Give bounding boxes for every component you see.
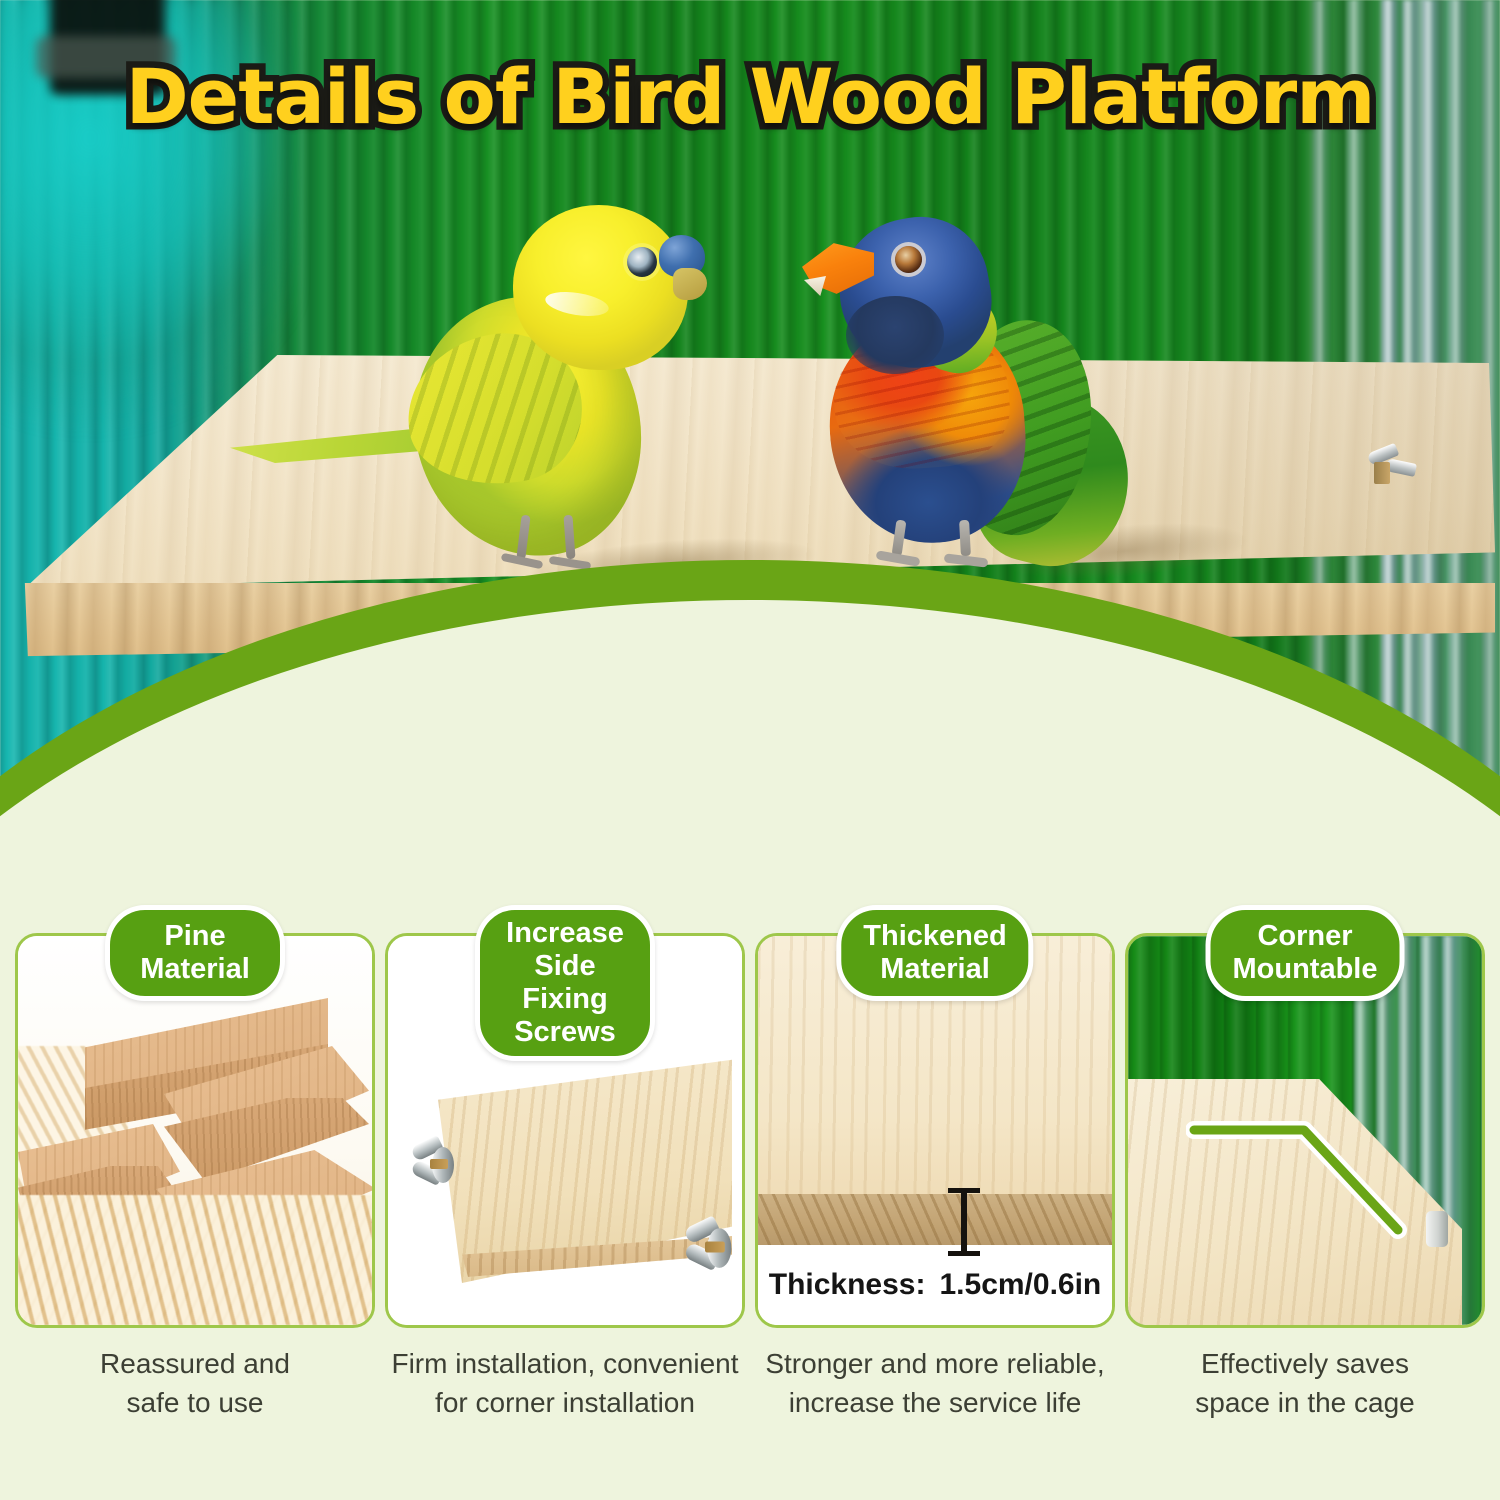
- badge-pine-material: Pine Material: [105, 905, 285, 1001]
- budgie-eye: [627, 247, 657, 277]
- budgie-beak: [673, 268, 707, 300]
- thickness-value: 1.5cm/0.6in: [939, 1268, 1101, 1302]
- caption-pine-material: Reassured and safe to use: [15, 1345, 375, 1422]
- feature-card-row: Pine Material Increase Side Fixing S: [0, 905, 1500, 1328]
- budgerigar-bird: [405, 185, 735, 605]
- feature-card-corner-mountable: Corner Mountable: [1125, 905, 1485, 1328]
- caption-thickened-material: Stronger and more reliable, increase the…: [755, 1345, 1115, 1422]
- feature-card-side-screws: Increase Side Fixing Screws: [385, 905, 745, 1328]
- wing-nut-screw-icon: [1368, 448, 1422, 482]
- feature-card-pine-material: Pine Material: [15, 905, 375, 1328]
- rainbow-lorikeet-bird: [800, 200, 1120, 600]
- lorikeet-nape: [846, 296, 944, 374]
- feature-card-thickened-material: Thickened Material Thickness: 1.5cm/0.6i…: [755, 905, 1115, 1328]
- corner-mount-screw-icon: [1426, 1211, 1448, 1247]
- thickness-caption: Thickness: 1.5cm/0.6in: [758, 1245, 1112, 1325]
- page-title: Details of Bird Wood Platform: [0, 52, 1500, 141]
- badge-corner-mountable: Corner Mountable: [1206, 905, 1405, 1001]
- board-thickness-edge: [758, 1194, 1112, 1252]
- lorikeet-beak-tip: [804, 276, 826, 296]
- badge-thickened-material: Thickened Material: [836, 905, 1033, 1001]
- wood-shavings-bottom: [18, 1195, 372, 1325]
- lorikeet-eye: [895, 246, 922, 273]
- corner-angle-annotation-icon: [1186, 1118, 1426, 1248]
- badge-increase-side-fixing-screws: Increase Side Fixing Screws: [475, 905, 655, 1061]
- caption-side-screws: Firm installation, convenient for corner…: [385, 1345, 745, 1422]
- dimension-marker-icon: [948, 1188, 980, 1256]
- caption-corner-mountable: Effectively saves space in the cage: [1125, 1345, 1485, 1422]
- thickness-label: Thickness:: [769, 1268, 926, 1302]
- hero-section: Details of Bird Wood Platform: [0, 0, 1500, 820]
- wing-screw-right-icon: [685, 1222, 745, 1273]
- feature-caption-row: Reassured and safe to use Firm installat…: [0, 1345, 1500, 1422]
- budgie-head: [513, 205, 688, 370]
- wing-screw-left-icon: [412, 1141, 468, 1187]
- infographic-page: Details of Bird Wood Platform: [0, 0, 1500, 1500]
